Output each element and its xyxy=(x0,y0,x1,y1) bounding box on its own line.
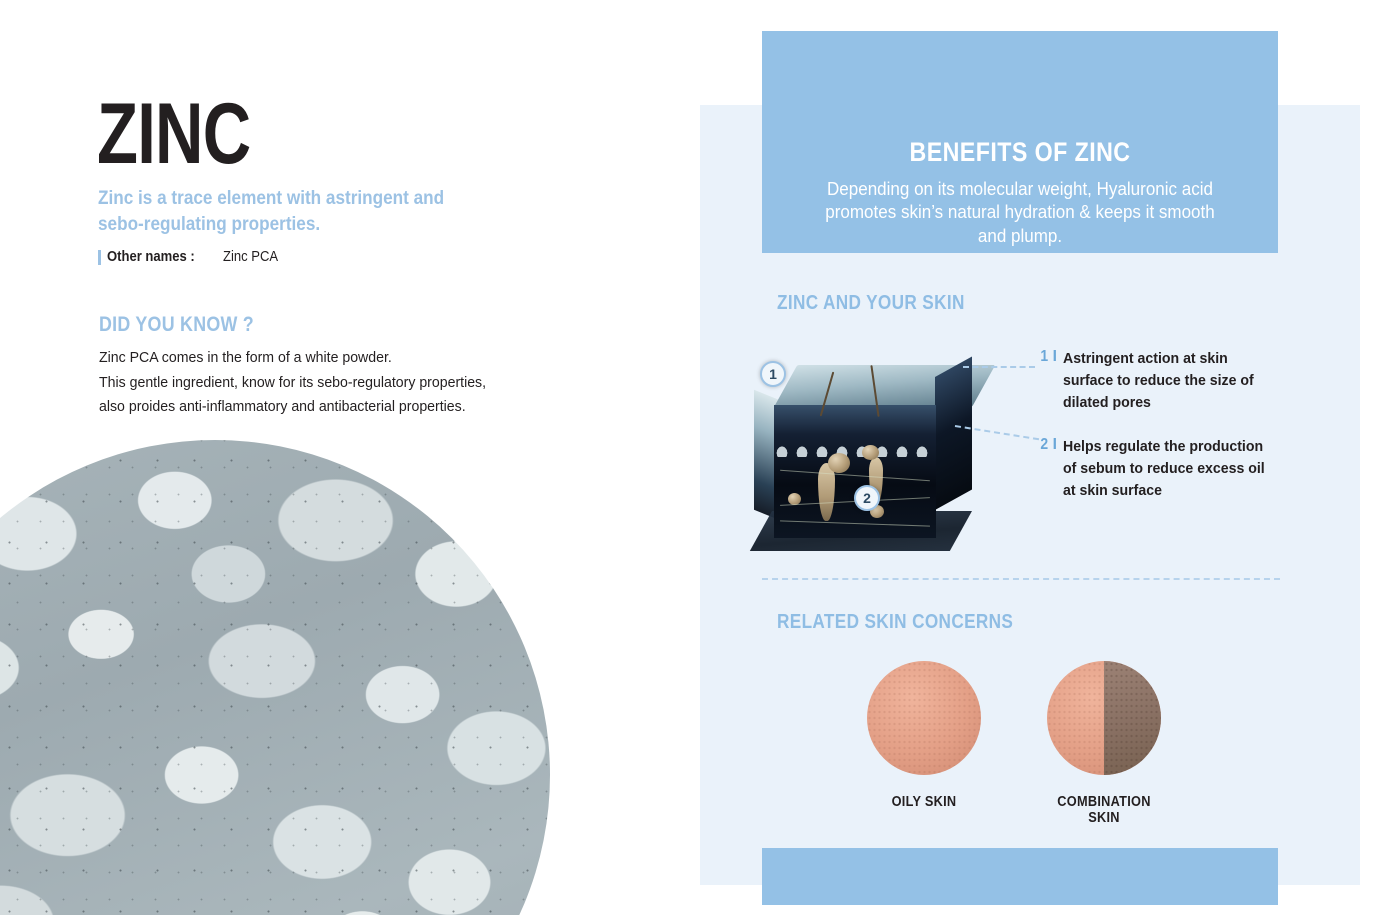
skin-block xyxy=(774,365,972,540)
bullet-number: 2 xyxy=(1040,436,1048,502)
bullet-bar-icon xyxy=(98,250,101,265)
section-divider xyxy=(762,578,1280,580)
oily-skin-swatch xyxy=(867,661,981,775)
bullet-separator-icon: I xyxy=(1053,348,1057,414)
left-panel: ZINC Zinc is a trace element with astrin… xyxy=(0,0,690,915)
sebaceous-gland xyxy=(828,453,850,473)
sebaceous-gland xyxy=(862,445,879,460)
bullet-number: 1 xyxy=(1040,348,1048,414)
did-you-know-body: Zinc PCA comes in the form of a white po… xyxy=(99,346,536,420)
diagram-marker-1: 1 xyxy=(760,361,786,387)
list-item: 1 I Astringent action at skin surface to… xyxy=(1040,348,1290,414)
zinc-texture-image xyxy=(0,440,550,915)
nerve-fiber xyxy=(780,470,930,481)
skin-dermis-face xyxy=(774,405,936,538)
other-names-label: Other names : xyxy=(107,249,195,265)
combination-skin-label: COMBINATION SKIN xyxy=(1054,794,1154,826)
section-heading-zinc-and-your-skin: ZINC AND YOUR SKIN xyxy=(777,292,965,315)
skin-concern-oily[interactable]: OILY SKIN xyxy=(867,661,981,810)
did-you-know-heading: DID YOU KNOW ? xyxy=(99,313,254,337)
other-names-value: Zinc PCA xyxy=(223,249,278,265)
benefits-title: BENEFITS OF ZINC xyxy=(826,137,1215,168)
page-subtitle: Zinc is a trace element with astringent … xyxy=(98,186,450,237)
skin-concern-combination[interactable]: COMBINATION SKIN xyxy=(1047,661,1161,826)
section-heading-related-skin-concerns: RELATED SKIN CONCERNS xyxy=(777,611,1013,634)
infographic-page: ZINC Zinc is a trace element with astrin… xyxy=(0,0,1400,915)
diagram-marker-2: 2 xyxy=(854,485,880,511)
skin-side-face xyxy=(935,356,972,510)
other-names-row: Other names : Zinc PCA xyxy=(98,249,284,265)
oily-skin-label: OILY SKIN xyxy=(874,794,974,810)
benefits-box: BENEFITS OF ZINC Depending on its molecu… xyxy=(762,31,1278,253)
bullet-text: Astringent action at skin surface to red… xyxy=(1063,348,1274,414)
combination-skin-swatch xyxy=(1047,661,1161,775)
list-item: 2 I Helps regulate the production of seb… xyxy=(1040,436,1290,502)
bullet-text: Helps regulate the production of sebum t… xyxy=(1063,436,1274,502)
zinc-texture-speckle xyxy=(0,440,550,915)
connector-line-1 xyxy=(963,366,1035,368)
benefits-description: Depending on its molecular weight, Hyalu… xyxy=(812,177,1228,247)
bullet-separator-icon: I xyxy=(1053,436,1057,502)
bottom-accent-bar xyxy=(762,848,1278,905)
nerve-fiber xyxy=(780,520,930,526)
dermal-papillae xyxy=(774,441,936,457)
page-title: ZINC xyxy=(97,95,250,174)
benefit-bullet-list: 1 I Astringent action at skin surface to… xyxy=(1040,348,1290,524)
